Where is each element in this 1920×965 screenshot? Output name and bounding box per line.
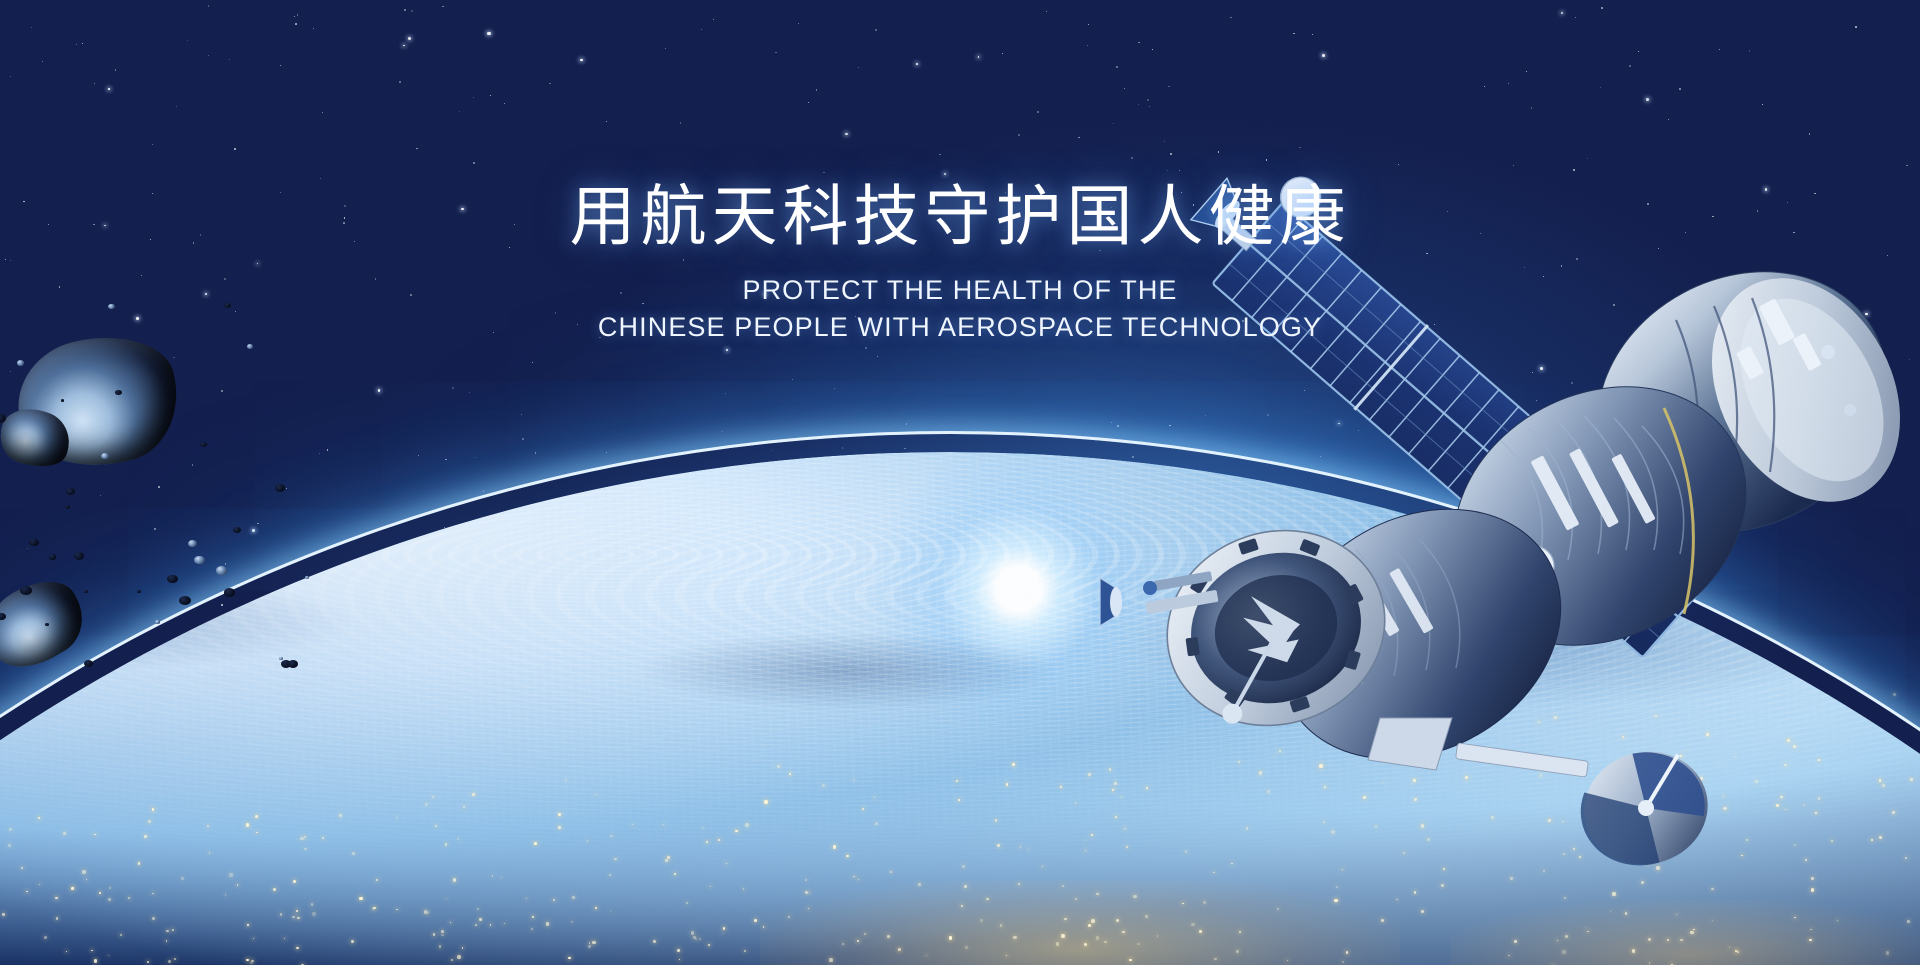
hero-banner: 用航天科技守护国人健康 PROTECT THE HEALTH OF THE CH… [0, 0, 1920, 965]
headline-chinese: 用航天科技守护国人健康 [0, 176, 1920, 257]
subtitle-line-1: PROTECT THE HEALTH OF THE [0, 273, 1920, 308]
hero-text-block: 用航天科技守护国人健康 PROTECT THE HEALTH OF THE CH… [0, 176, 1920, 345]
subtitle-line-2: CHINESE PEOPLE WITH AEROSPACE TECHNOLOGY [0, 310, 1920, 345]
